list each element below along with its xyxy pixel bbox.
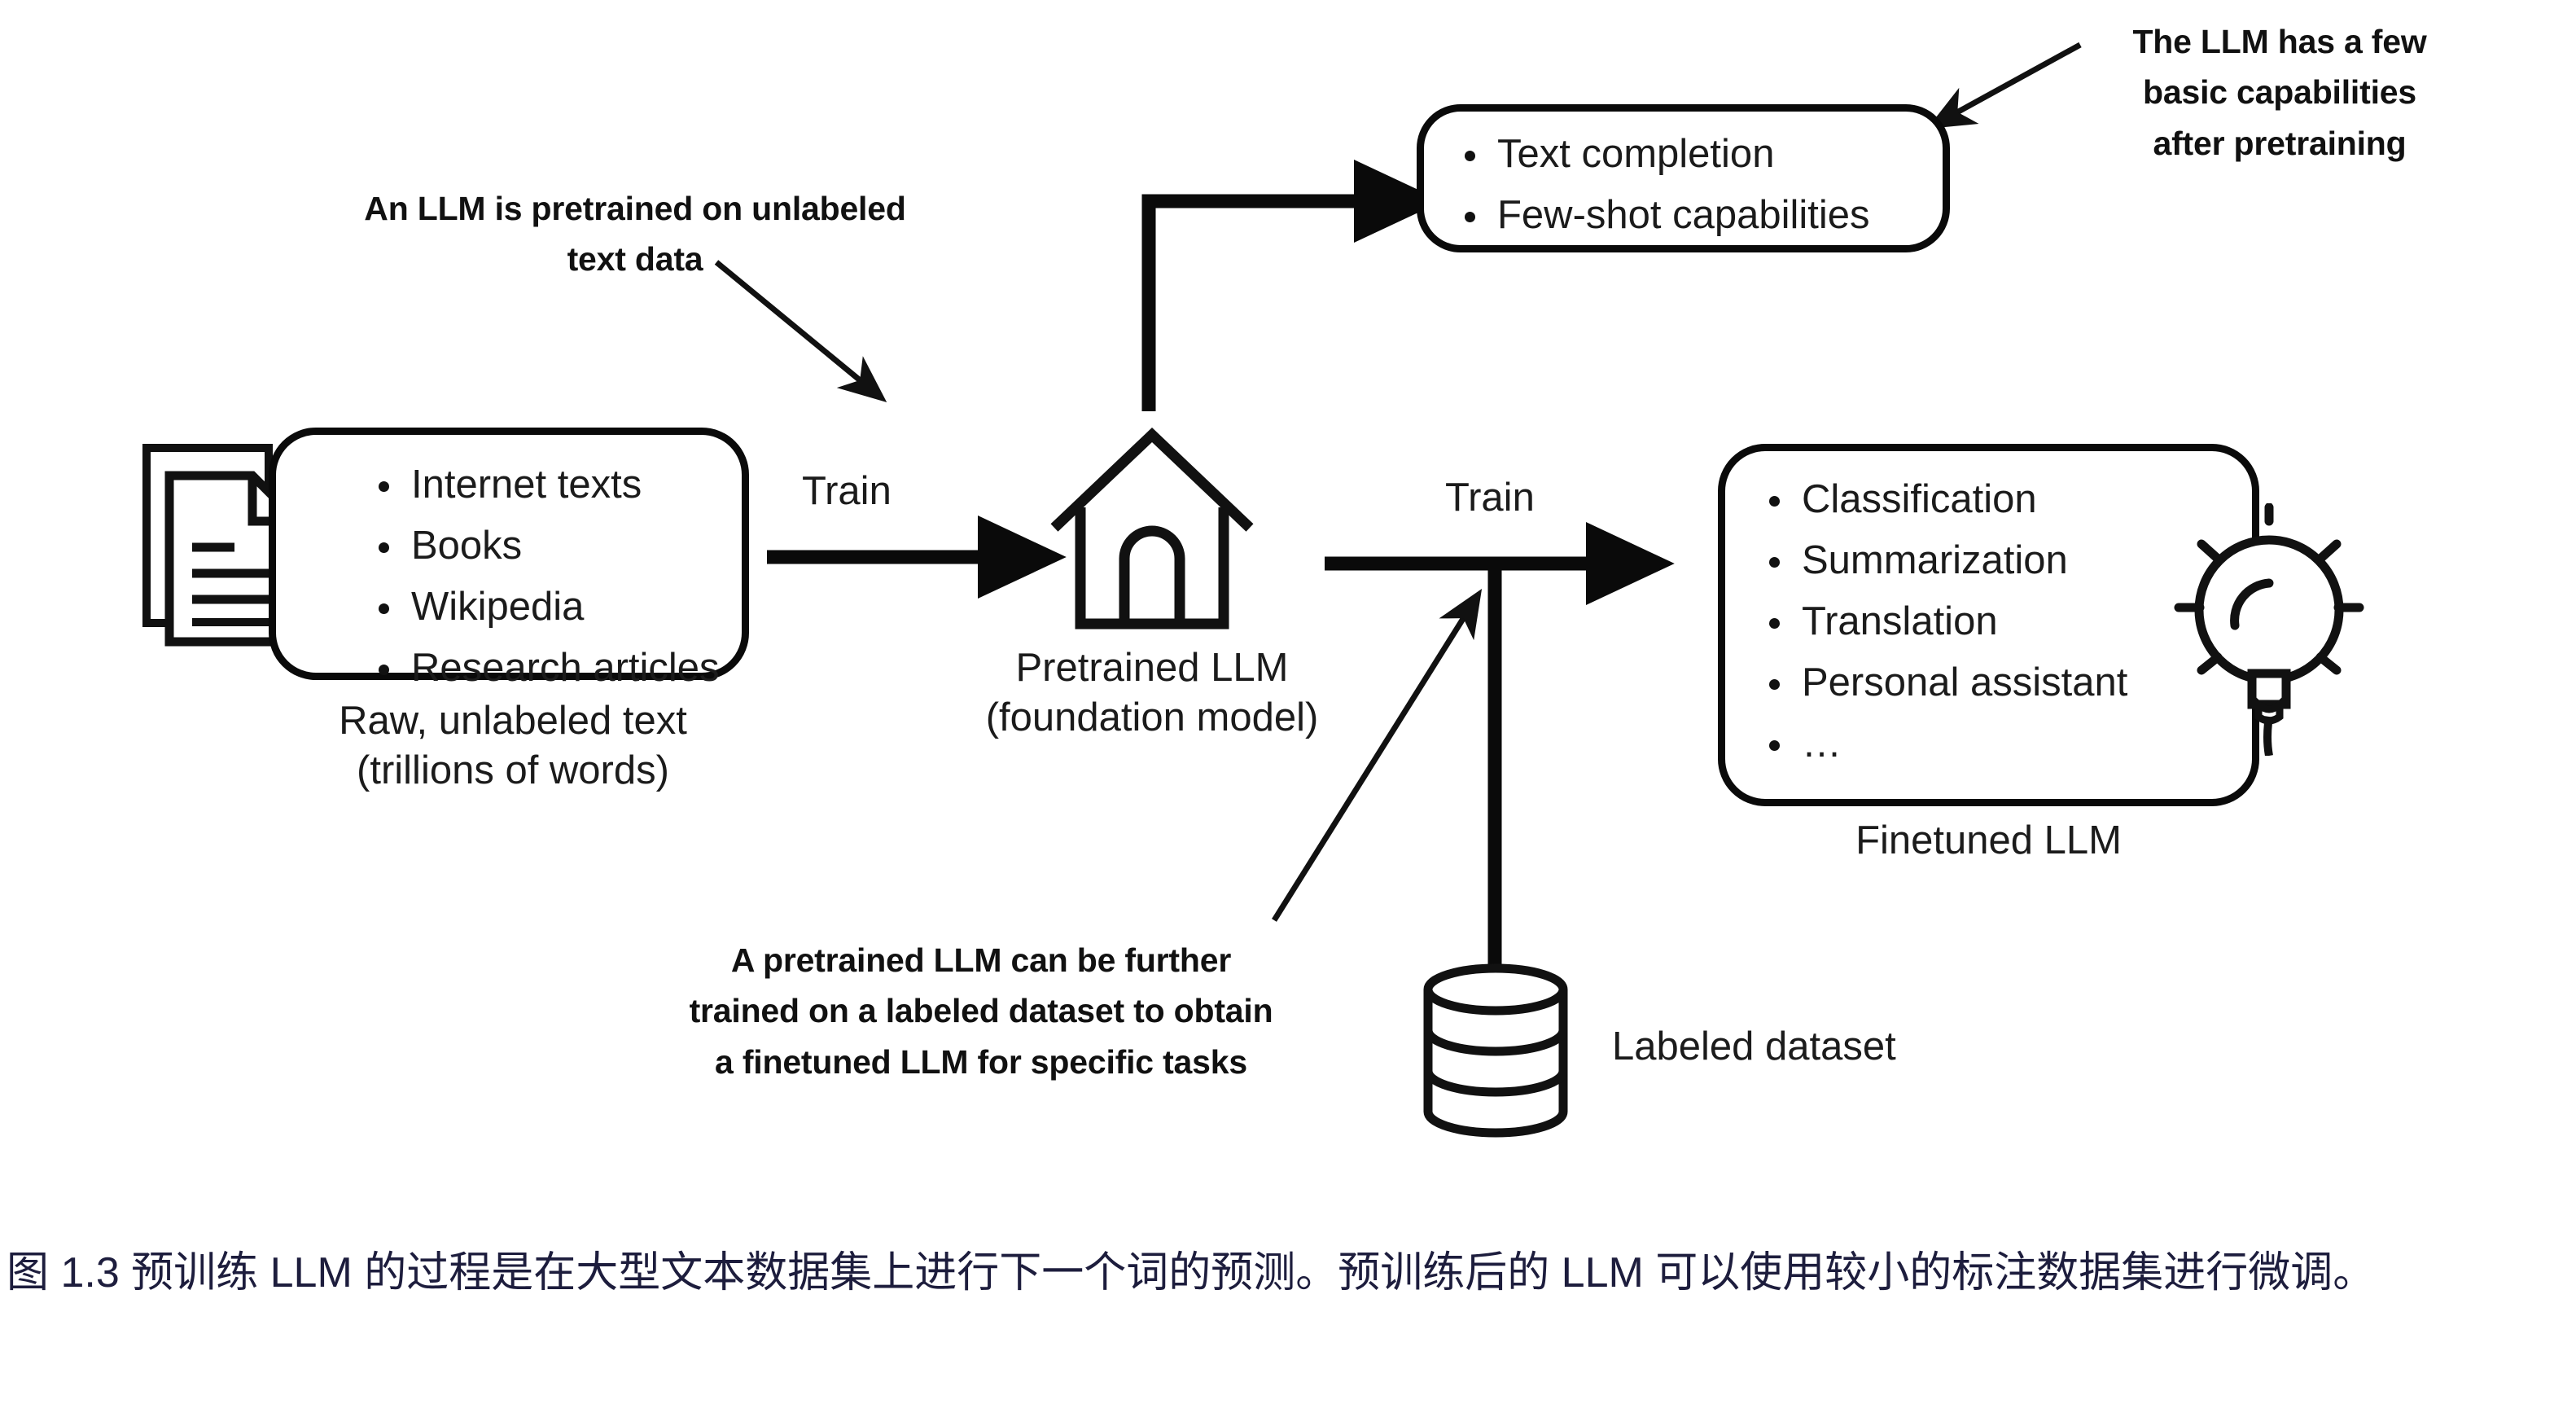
figure-caption: 图 1.3 预训练 LLM 的过程是在大型文本数据集上进行下一个词的预测。预训练…: [7, 1241, 2571, 1305]
raw-text-list: Internet texts Books Wikipedia Research …: [367, 454, 742, 699]
house-icon: [1038, 422, 1266, 634]
list-item: Wikipedia: [367, 577, 742, 638]
pretraining-capabilities-box: Text completion Few-shot capabilities: [1417, 104, 1950, 252]
labeled-dataset-label: Labeled dataset: [1612, 1022, 2068, 1072]
lightbulb-icon: [2149, 503, 2385, 756]
capabilities-list: Text completion Few-shot capabilities: [1453, 124, 1943, 246]
arrow-pretrained-to-capabilities: [1149, 201, 1368, 411]
train-label-finetune: Train: [1445, 475, 1535, 520]
list-item: Text completion: [1453, 124, 1943, 185]
pretrained-llm-label: Pretrained LLM (foundation model): [883, 643, 1421, 743]
callout-pretraining: An LLM is pretrained on unlabeled text d…: [301, 183, 969, 285]
annotation-arrow-capabilities: [1954, 45, 2080, 114]
train-label-pretrain: Train: [802, 468, 892, 514]
list-item: Internet texts: [367, 454, 742, 516]
raw-text-label: Raw, unlabeled text (trillions of words): [220, 696, 806, 796]
list-item: Few-shot capabilities: [1453, 185, 1943, 246]
figure-diagram: Internet texts Books Wikipedia Research …: [0, 0, 2576, 1173]
list-item: Research articles: [367, 638, 742, 699]
arrow-train-finetune: [1325, 564, 1600, 965]
list-item: Books: [367, 516, 742, 577]
finetuned-llm-label: Finetuned LLM: [1718, 816, 2259, 866]
database-icon: [1418, 963, 1573, 1139]
raw-text-box: Internet texts Books Wikipedia Research …: [269, 428, 749, 680]
callout-finetuning: A pretrained LLM can be further trained …: [627, 935, 1335, 1087]
callout-capabilities: The LLM has a few basic capabilities aft…: [2092, 16, 2467, 169]
